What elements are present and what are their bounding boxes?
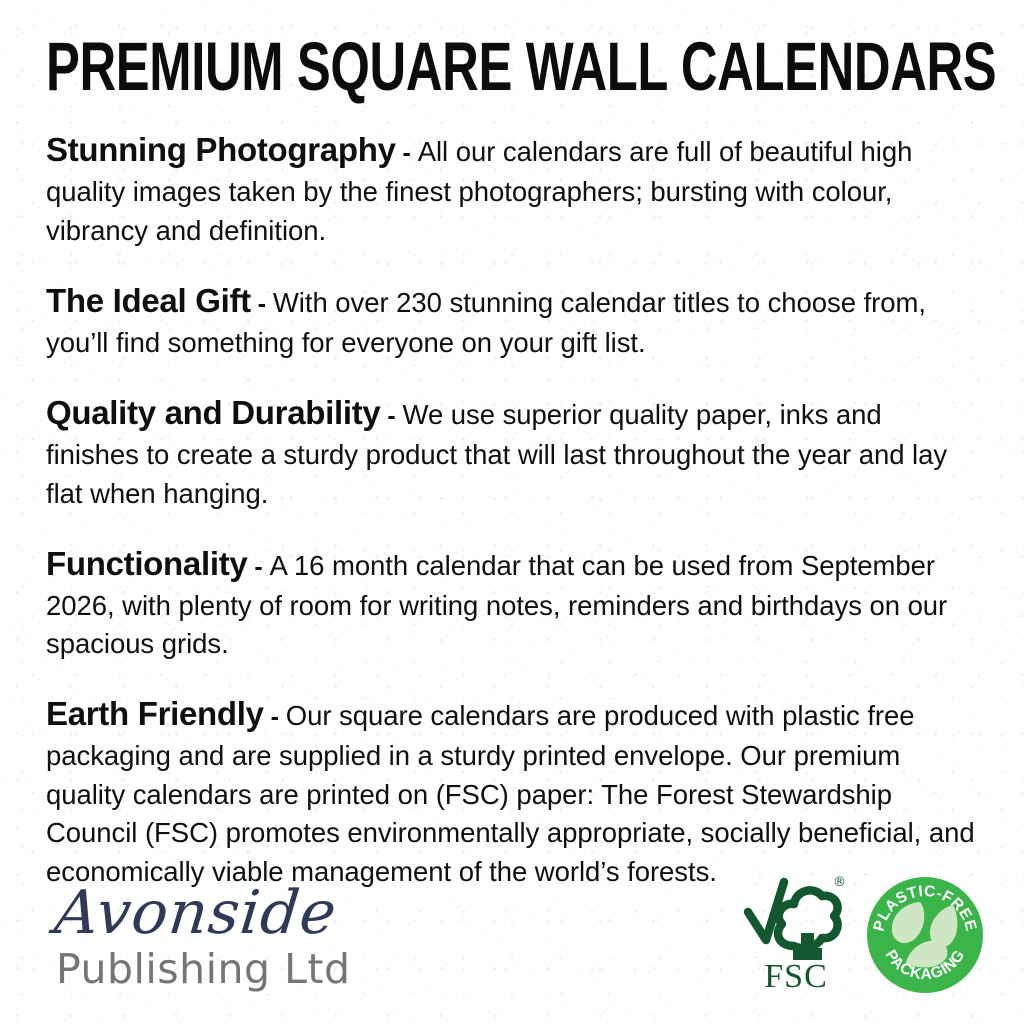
feature-dash: - <box>264 703 286 731</box>
poster-footer: Avonside Publishing Ltd ® FSC <box>46 856 984 1006</box>
feature-heading: Quality and Durability <box>46 394 380 431</box>
feature-heading: The Ideal Gift <box>46 282 251 319</box>
feature-list: Stunning Photography - All our calendars… <box>46 127 978 891</box>
feature-block-functionality: Functionality - A 16 month calendar that… <box>46 541 978 664</box>
certification-marks: ® FSC <box>744 876 984 994</box>
fsc-logo: ® FSC <box>744 876 848 994</box>
poster-content: PREMIUM SQUARE WALL CALENDARS Stunning P… <box>0 0 1024 1024</box>
poster-canvas: PREMIUM SQUARE WALL CALENDARS Stunning P… <box>0 0 1024 1024</box>
brand-name: Avonside <box>52 883 357 943</box>
page-title: PREMIUM SQUARE WALL CALENDARS <box>46 0 732 100</box>
feature-block-stunning-photography: Stunning Photography - All our calendars… <box>46 127 978 250</box>
feature-dash: - <box>247 553 269 581</box>
plastic-free-packaging-badge: PLASTIC-FREE PACKAGING <box>866 876 984 994</box>
feature-block-the-ideal-gift: The Ideal Gift - With over 230 stunning … <box>46 278 978 363</box>
feature-dash: - <box>396 139 418 167</box>
feature-heading: Stunning Photography <box>46 131 396 168</box>
fsc-label: FSC <box>744 960 848 994</box>
feature-block-quality-and-durability: Quality and Durability - We use superior… <box>46 390 978 513</box>
plastic-free-badge-icon: PLASTIC-FREE PACKAGING <box>866 876 984 994</box>
feature-dash: - <box>380 402 402 430</box>
brand-subtitle: Publishing Ltd <box>56 949 351 990</box>
registered-trademark-icon: ® <box>833 876 846 889</box>
feature-heading: Earth Friendly <box>46 695 264 732</box>
feature-dash: - <box>251 290 273 318</box>
feature-heading: Functionality <box>46 545 247 582</box>
brand-logo: Avonside Publishing Ltd <box>52 883 351 990</box>
